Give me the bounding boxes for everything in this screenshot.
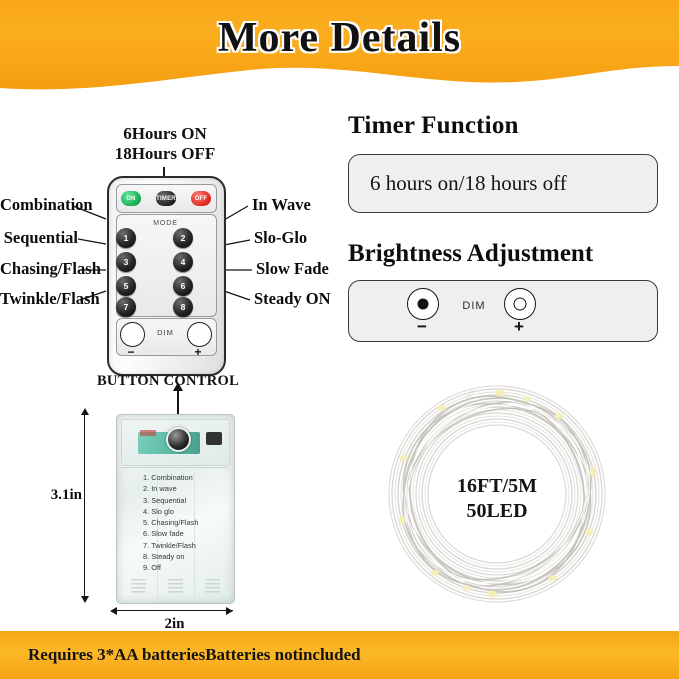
brightness-plus-sign: + xyxy=(504,317,534,337)
footer-note: Requires 3*AA batteriesBatteries notincl… xyxy=(28,645,361,665)
remote-button-4[interactable]: 4 xyxy=(173,252,193,272)
remote-button-1[interactable]: 1 xyxy=(116,228,136,248)
remote-power-pad: ON TIMER OFF xyxy=(116,184,217,213)
brightness-controls-box: DIM − + xyxy=(348,280,658,342)
remote-label-sequential: Sequential xyxy=(0,228,78,248)
remote-label-chasing-flash: Chasing/Flash xyxy=(0,259,80,279)
remote-button-5[interactable]: 5 xyxy=(116,276,136,296)
battery-spring xyxy=(131,579,146,595)
remote-dim-minus-sign: − xyxy=(121,345,141,359)
battery-mode-item: 3. Sequential xyxy=(143,495,198,506)
remote-label-slo-glo: Slo-Glo xyxy=(254,228,307,248)
battery-spring xyxy=(168,579,183,595)
page-title: More Details xyxy=(0,14,679,62)
header-banner: More Details xyxy=(0,0,679,100)
remote-off-button[interactable]: OFF xyxy=(191,191,211,206)
battery-control-button[interactable] xyxy=(166,427,191,452)
remote-label-in-wave: In Wave xyxy=(252,195,311,215)
battery-mode-item: 5. Chasing/Flash xyxy=(143,517,198,528)
remote-label-twinkle-flash: Twinkle/Flash xyxy=(0,289,80,309)
remote-mode-label: MODE xyxy=(109,220,222,227)
remote-button-8[interactable]: 8 xyxy=(173,297,193,317)
width-dimension-line xyxy=(116,610,233,611)
battery-mode-item: 9. Off xyxy=(143,562,198,573)
brightness-adjustment-title: Brightness Adjustment xyxy=(348,240,658,268)
remote-on-button[interactable]: ON xyxy=(121,191,141,206)
battery-mode-item: 2. In wave xyxy=(143,483,198,494)
remote-button-3[interactable]: 3 xyxy=(116,252,136,272)
remote-label-steady-on: Steady ON xyxy=(254,289,331,309)
coil-led-count-label: 50LED xyxy=(368,499,626,524)
width-arrow-right-icon xyxy=(226,607,233,615)
timer-value-text: 6 hours on/18 hours off xyxy=(349,171,567,196)
battery-mode-item: 1. Combination xyxy=(143,472,198,483)
battery-mode-item: 8. Steady on xyxy=(143,551,198,562)
battery-spring xyxy=(205,579,220,595)
button-control-caption: BUTTON CONTROL xyxy=(78,373,258,390)
footer-banner: Requires 3*AA batteriesBatteries notincl… xyxy=(0,631,679,679)
battery-mode-item: 7. Twinkle/Flash xyxy=(143,540,198,551)
battery-divider xyxy=(121,467,228,468)
battery-mode-list: 1. Combination 2. In wave 3. Sequential … xyxy=(143,472,198,573)
remote-button-7[interactable]: 7 xyxy=(116,297,136,317)
product-detail-infographic: More Details 6Hours ON 18Hours OFF Combi… xyxy=(0,0,679,679)
remote-label-combination: Combination xyxy=(0,195,73,215)
brightness-up-icon[interactable] xyxy=(504,288,536,320)
brightness-dim-label: DIM xyxy=(449,300,499,312)
battery-mode-item: 4. Slo glo xyxy=(143,506,198,517)
remote-dim-label: DIM xyxy=(109,328,222,337)
right-info-panel: Timer Function 6 hours on/18 hours off B… xyxy=(348,112,658,342)
remote-dim-plus-sign: + xyxy=(188,345,208,359)
height-arrow-down-icon xyxy=(81,596,89,603)
remote-timer-button[interactable]: TIMER xyxy=(156,191,176,206)
timer-value-box: 6 hours on/18 hours off xyxy=(348,154,658,213)
circuit-component xyxy=(140,430,156,436)
battery-box-section: 3.1in 2in 1. Combination 2. In wave 3. S… xyxy=(60,392,320,627)
height-arrow-up-icon xyxy=(81,408,89,415)
wire-coil-section: 16FT/5M 50LED xyxy=(368,378,626,616)
battery-mode-item: 6. Slow fade xyxy=(143,528,198,539)
coil-length-label: 16FT/5M xyxy=(368,474,626,499)
remote-control-section: 6Hours ON 18Hours OFF Combination Sequen… xyxy=(0,110,340,395)
page-title-text: More Details xyxy=(218,15,461,61)
coil-spec-text: 16FT/5M 50LED xyxy=(368,474,626,524)
brightness-minus-sign: − xyxy=(407,317,437,337)
remote-control-device: ON TIMER OFF MODE 1 2 3 4 5 6 7 8 DIM − xyxy=(107,176,226,376)
battery-height-label: 3.1in xyxy=(48,487,82,504)
battery-chip xyxy=(206,432,222,445)
remote-label-slow-fade: Slow Fade xyxy=(256,259,329,279)
remote-button-2[interactable]: 2 xyxy=(173,228,193,248)
button-control-pointer-arrow xyxy=(173,382,183,391)
brightness-down-icon[interactable] xyxy=(407,288,439,320)
width-arrow-left-icon xyxy=(110,607,117,615)
battery-box: 1. Combination 2. In wave 3. Sequential … xyxy=(116,414,235,604)
timer-function-title: Timer Function xyxy=(348,112,658,140)
remote-button-6[interactable]: 6 xyxy=(173,276,193,296)
height-dimension-line xyxy=(84,414,85,602)
